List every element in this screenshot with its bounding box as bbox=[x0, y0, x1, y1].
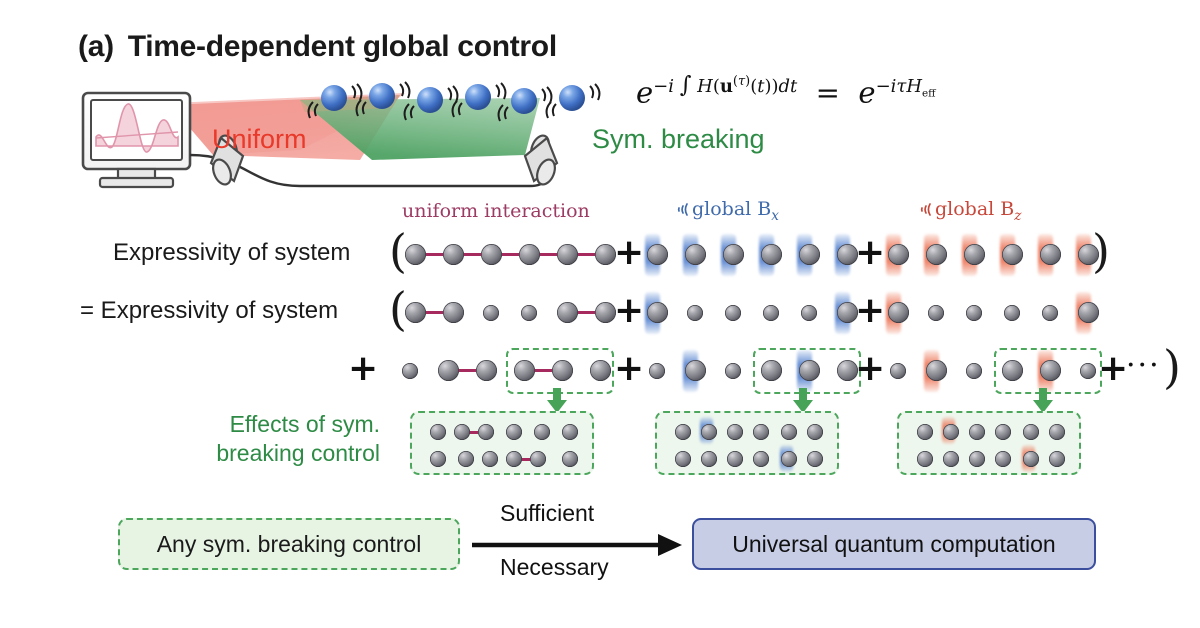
implication-arrow-icon bbox=[472, 532, 684, 563]
row-3-leading-plus: + bbox=[348, 348, 378, 389]
row-3-term-interaction bbox=[398, 348, 608, 394]
row-2-term-bz bbox=[886, 290, 1096, 336]
row-3-ellipsis: ··· bbox=[1126, 348, 1161, 383]
effects-label-line1: Effects of sym. bbox=[200, 410, 380, 439]
effects-box-bz bbox=[897, 411, 1081, 475]
row-1-term-bx bbox=[645, 232, 855, 278]
term-header-bx-sub: x bbox=[771, 208, 779, 224]
row-1-term-interaction bbox=[403, 232, 608, 278]
row-3-plus-1: + bbox=[614, 348, 644, 389]
wave-icon bbox=[673, 200, 690, 222]
universal-quantum-computation-text: Universal quantum computation bbox=[732, 531, 1055, 558]
row-3-term-bz bbox=[886, 348, 1096, 394]
effects-label: Effects of sym. breaking control bbox=[200, 410, 380, 469]
term-header-bx-text: global B bbox=[692, 198, 771, 220]
effects-box-interaction bbox=[410, 411, 594, 475]
universal-quantum-computation-box: Universal quantum computation bbox=[692, 518, 1096, 570]
any-sym-breaking-control-text: Any sym. breaking control bbox=[157, 531, 422, 558]
row-2-term-interaction bbox=[403, 290, 608, 336]
row-1-plus-1: + bbox=[614, 232, 644, 273]
waveform-monitor-icon bbox=[83, 93, 190, 187]
row-3-close-paren: ) bbox=[1163, 340, 1181, 394]
row-1-plus-2: + bbox=[855, 232, 885, 273]
row-2-plus-1: + bbox=[614, 290, 644, 331]
term-header-uniform-interaction: uniform interaction bbox=[402, 200, 590, 222]
term-header-bz-text: global B bbox=[935, 198, 1014, 220]
row-2-plus-2: + bbox=[855, 290, 885, 331]
term-header-bz-sub: z bbox=[1014, 208, 1021, 224]
label-sym-breaking: Sym. breaking bbox=[592, 124, 765, 155]
apparatus-illustration bbox=[0, 0, 640, 210]
wave-icon bbox=[916, 200, 933, 222]
hamiltonian-equation: e−i ∫ H(u(τ)(t))dt = e−iτHeff bbox=[636, 72, 936, 110]
row-3-term-bx bbox=[645, 348, 855, 394]
row-3-plus-2: + bbox=[855, 348, 885, 389]
expression-row-2: = Expressivity of system ( + + bbox=[0, 284, 1200, 344]
row-3-plus-3: + bbox=[1098, 348, 1128, 389]
expression-row-1: Expressivity of system ( + + bbox=[0, 226, 1200, 286]
term-header-global-bz: global Bz bbox=[916, 198, 1021, 224]
arrow-label-sufficient: Sufficient bbox=[500, 500, 594, 527]
projector-right-icon bbox=[525, 133, 558, 187]
effects-label-line2: breaking control bbox=[200, 439, 380, 468]
any-sym-breaking-control-box: Any sym. breaking control bbox=[118, 518, 460, 570]
row-2-term-bx bbox=[645, 290, 855, 336]
row-1-close-paren: ) bbox=[1092, 224, 1110, 278]
label-uniform: Uniform bbox=[212, 124, 307, 155]
row-1-term-bz bbox=[886, 232, 1096, 278]
row-1-label: Expressivity of system bbox=[113, 239, 350, 267]
row-2-label: = Expressivity of system bbox=[80, 297, 338, 325]
term-header-global-bx: global Bx bbox=[673, 198, 779, 224]
expression-row-3: + + + bbox=[0, 342, 1200, 402]
effects-box-bx bbox=[655, 411, 839, 475]
figure-panel-a: (a)Time-dependent global control bbox=[0, 0, 1200, 628]
